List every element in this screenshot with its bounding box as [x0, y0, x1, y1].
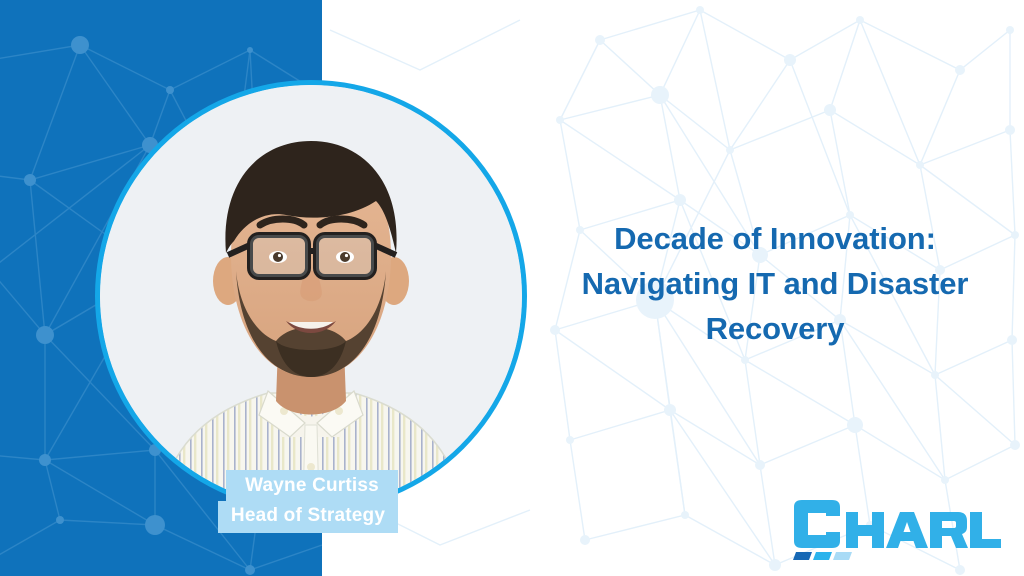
charles-wordmark-icon [788, 498, 1003, 560]
title-line-3: Recovery [545, 306, 1005, 351]
presentation-slide: Wayne Curtiss Head of Strategy Decade of… [0, 0, 1024, 576]
portrait-photo [100, 85, 522, 507]
logo-accent-bars-icon [793, 552, 852, 560]
title-line-1: Decade of Innovation: [545, 216, 1005, 261]
title-line-2: Navigating IT and Disaster [545, 261, 1005, 306]
charles-logo [788, 498, 1003, 560]
slide-title: Decade of Innovation: Navigating IT and … [545, 216, 1005, 351]
speaker-portrait [100, 85, 522, 507]
